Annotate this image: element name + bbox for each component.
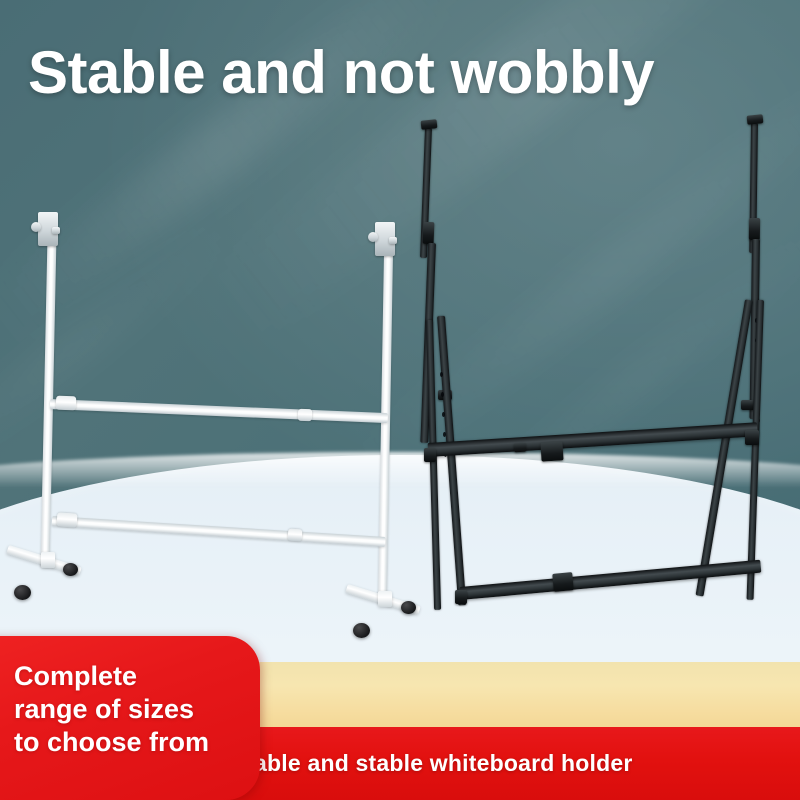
black-leg-hole [442,412,445,417]
black-upper-crossbar-right-cap [745,430,759,445]
black-upper-crossbar-lock [540,441,563,461]
white-upper-crossbar-collar [56,396,77,411]
white-upper-crossbar-joint [298,409,312,422]
black-lower-crossbar-lock [552,572,574,592]
black-upper-crossbar-left-cap [424,448,436,462]
white-caster-front-left [14,585,31,600]
black-leg-hole [441,392,444,397]
white-caster-front-right [353,623,370,638]
black-left-telescope-lock [423,222,435,244]
callout-line-3: to choose from [14,726,264,759]
white-right-clamp-knob [368,232,378,242]
black-leg-hole [443,432,446,437]
black-leg-hole [440,372,443,377]
page-title: Stable and not wobbly [28,38,654,107]
black-upper-crossbar-joint [514,443,527,453]
white-right-clamp-screw [389,237,397,244]
black-right-top-hook [747,114,764,125]
product-marketing-image: Stable and not wobbly Movable and stable… [0,0,800,800]
callout-line-1: Complete [14,660,264,693]
black-left-top-hook [421,119,438,130]
white-left-clamp-knob [31,222,41,232]
table-edge-highlight [0,452,800,488]
white-caster-rear-right [401,601,416,614]
black-right-telescope-lock [749,218,760,240]
white-left-foot-cap [41,552,55,568]
callout-line-2: range of sizes [14,693,264,726]
white-lower-crossbar-collar [57,512,78,527]
white-caster-rear-left [63,563,78,576]
callout-text: Complete range of sizes to choose from [14,660,264,759]
white-right-foot-cap [378,591,392,607]
white-left-clamp-screw [52,227,60,234]
white-lower-crossbar-joint [288,529,303,542]
black-lower-crossbar-left-cap [455,590,467,604]
